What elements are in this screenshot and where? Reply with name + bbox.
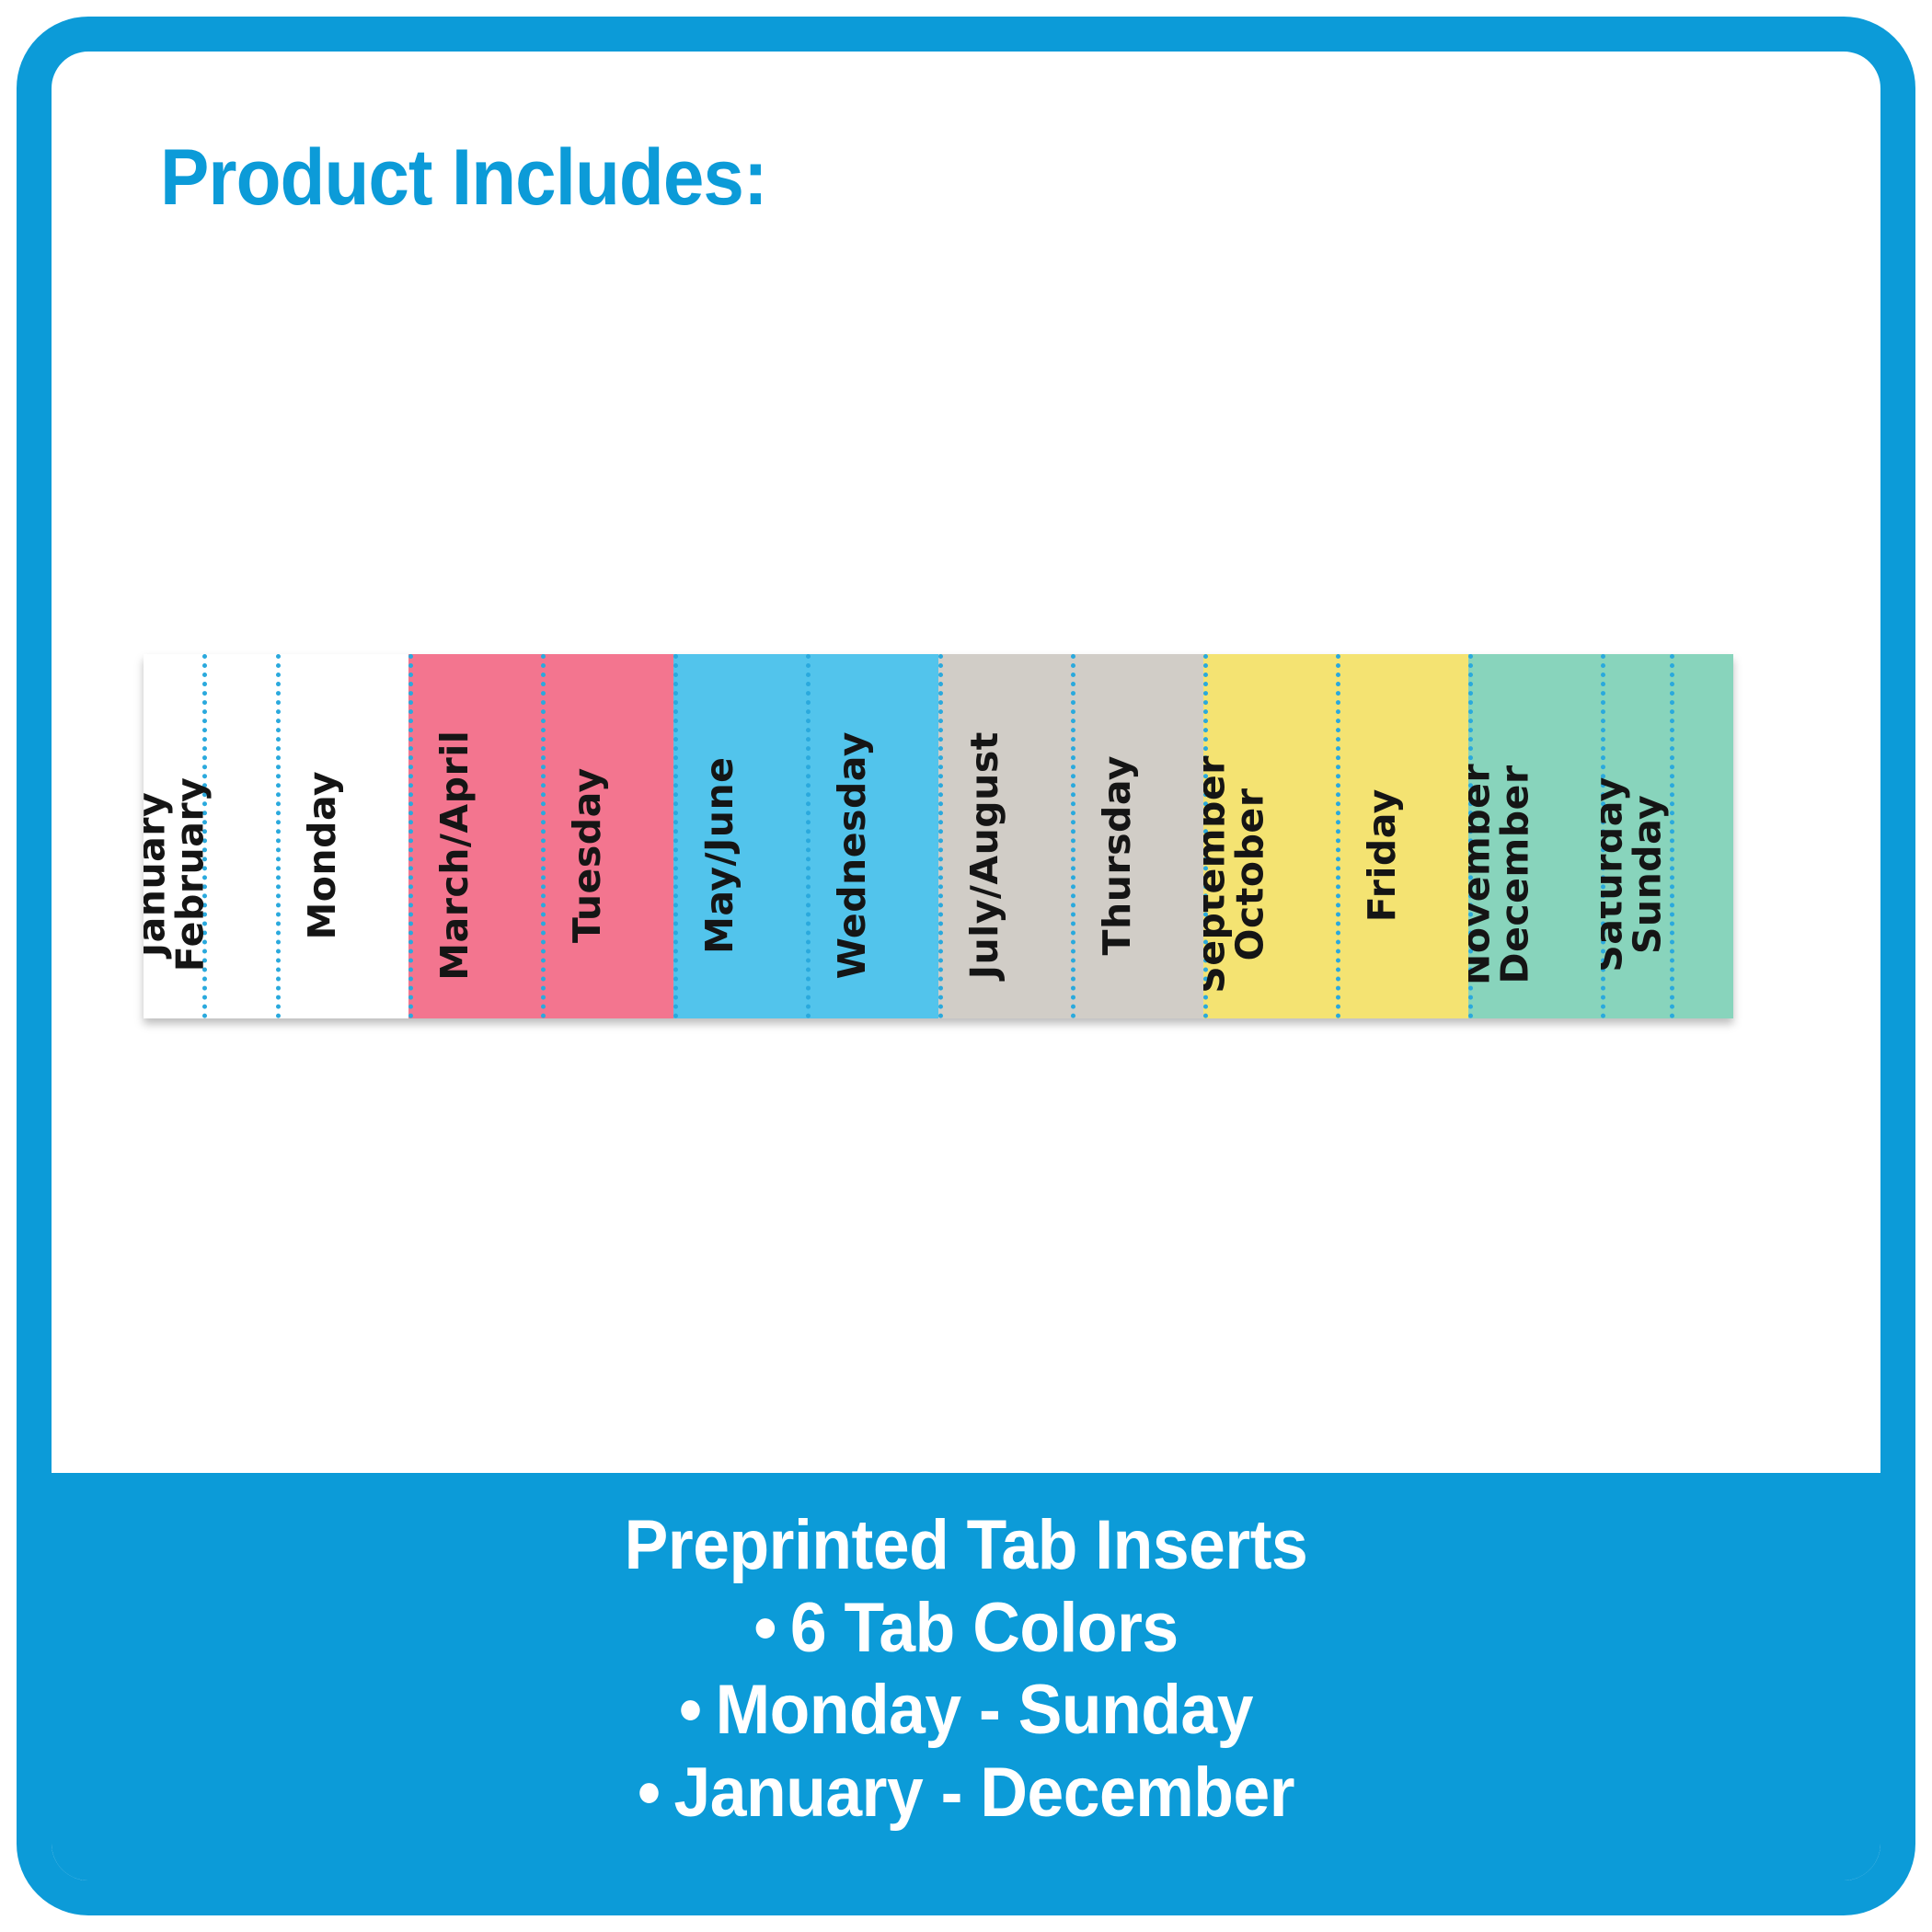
tab-insert-saturday-sunday[interactable]: Saturday Sunday <box>1601 654 1733 1018</box>
tab-insert-wednesday[interactable]: Wednesday <box>806 654 938 1018</box>
tab-insert-label: Thursday <box>1098 755 1137 955</box>
product-info-card: Product Includes: January FebruaryMonday… <box>17 17 1915 1915</box>
tab-insert-may-june[interactable]: May/June <box>673 654 806 1018</box>
tab-insert-label: May/June <box>701 757 740 954</box>
tab-insert-january-february[interactable]: January February <box>144 654 276 1018</box>
tab-insert-label: Tuesday <box>569 767 607 943</box>
banner-title: Preprinted Tab Inserts <box>107 1510 1826 1581</box>
feature-bullet: •6 Tab Colors <box>107 1587 1826 1670</box>
tab-insert-label: Monday <box>304 771 342 940</box>
tab-insert-september-october[interactable]: September October <box>1203 654 1336 1018</box>
page-title: Product Includes: <box>160 132 767 224</box>
tab-insert-friday[interactable]: Friday <box>1336 654 1468 1018</box>
bullet-dot-icon: • <box>753 1589 776 1667</box>
tab-insert-july-august[interactable]: July/August <box>938 654 1071 1018</box>
tab-strip: January FebruaryMondayMarch/AprilTuesday… <box>144 654 1733 1018</box>
feature-bullet-label: Monday - Sunday <box>716 1671 1253 1749</box>
tab-insert-label: September October <box>1203 755 1270 994</box>
tab-insert-monday[interactable]: Monday <box>276 654 408 1018</box>
feature-bullet-label: January - December <box>674 1754 1295 1832</box>
tab-strip-figure: January FebruaryMondayMarch/AprilTuesday… <box>144 654 1882 1022</box>
tab-insert-label: November December <box>1468 764 1535 985</box>
feature-bullet-label: 6 Tab Colors <box>790 1589 1179 1667</box>
tab-insert-thursday[interactable]: Thursday <box>1071 654 1203 1018</box>
tab-insert-label: Saturday Sunday <box>1601 776 1667 972</box>
tab-insert-november-december[interactable]: November December <box>1468 654 1601 1018</box>
tab-insert-march-april[interactable]: March/April <box>408 654 541 1018</box>
bullet-dot-icon: • <box>679 1671 702 1749</box>
feature-banner: Preprinted Tab Inserts •6 Tab Colors•Mon… <box>52 1473 1880 1915</box>
feature-bullet: •Monday - Sunday <box>107 1669 1826 1752</box>
tab-insert-label: Wednesday <box>834 731 872 979</box>
feature-bullet: •January - December <box>107 1752 1826 1834</box>
tab-insert-tuesday[interactable]: Tuesday <box>541 654 673 1018</box>
tab-insert-label: January February <box>144 777 210 972</box>
tab-insert-label: March/April <box>436 730 475 981</box>
tab-insert-label: July/August <box>966 731 1005 979</box>
tab-insert-label: Friday <box>1363 788 1402 922</box>
feature-bullet-list: •6 Tab Colors•Monday - Sunday•January - … <box>52 1587 1880 1834</box>
bullet-dot-icon: • <box>638 1754 661 1832</box>
